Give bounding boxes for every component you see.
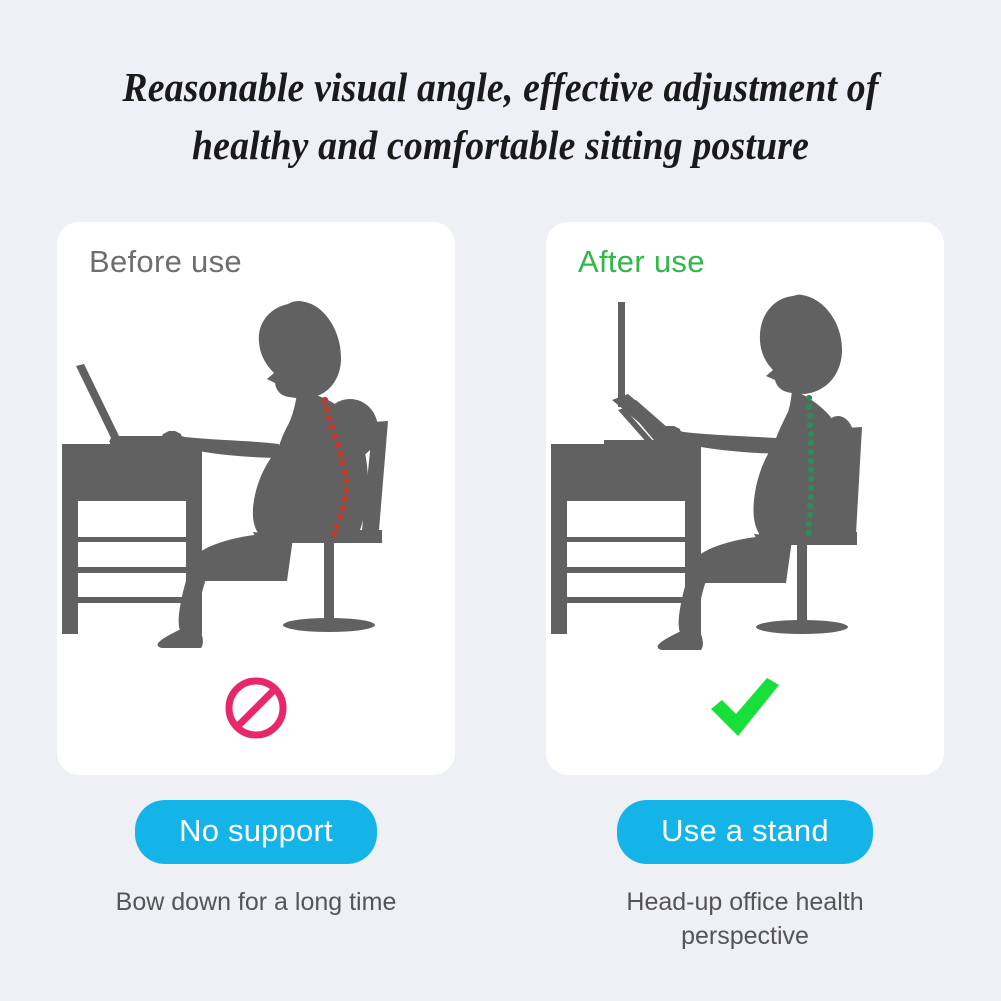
caption-before: Bow down for a long time <box>57 885 455 919</box>
no-support-button[interactable]: No support <box>135 800 377 864</box>
title-line-1: Reasonable visual angle, effective adjus… <box>40 58 961 116</box>
illustration-good-posture <box>546 282 944 652</box>
title-line-2: healthy and comfortable sitting posture <box>40 116 961 174</box>
bad-posture-svg <box>57 282 455 652</box>
footer-column-before: No support Bow down for a long time <box>57 800 455 919</box>
laptop-on-stand-icon <box>604 302 696 446</box>
caption-after: Head-up office health perspective <box>546 885 944 953</box>
page-title: Reasonable visual angle, effective adjus… <box>0 58 1001 174</box>
panel-label-before: Before use <box>89 244 242 280</box>
prohibition-icon <box>221 673 291 743</box>
verdict-after <box>546 663 944 753</box>
panel-label-after: After use <box>578 244 705 280</box>
footer-actions: No support Bow down for a long time Use … <box>0 800 1001 1000</box>
verdict-before <box>57 663 455 753</box>
illustration-bad-posture <box>57 282 455 652</box>
comparison-panels: Before use <box>0 222 1001 775</box>
checkmark-icon <box>705 673 785 743</box>
good-posture-svg <box>546 282 944 652</box>
footer-column-after: Use a stand Head-up office health perspe… <box>546 800 944 953</box>
use-a-stand-button[interactable]: Use a stand <box>617 800 873 864</box>
panel-before-use: Before use <box>57 222 455 775</box>
panel-after-use: After use <box>546 222 944 775</box>
desk-shape <box>551 444 701 634</box>
